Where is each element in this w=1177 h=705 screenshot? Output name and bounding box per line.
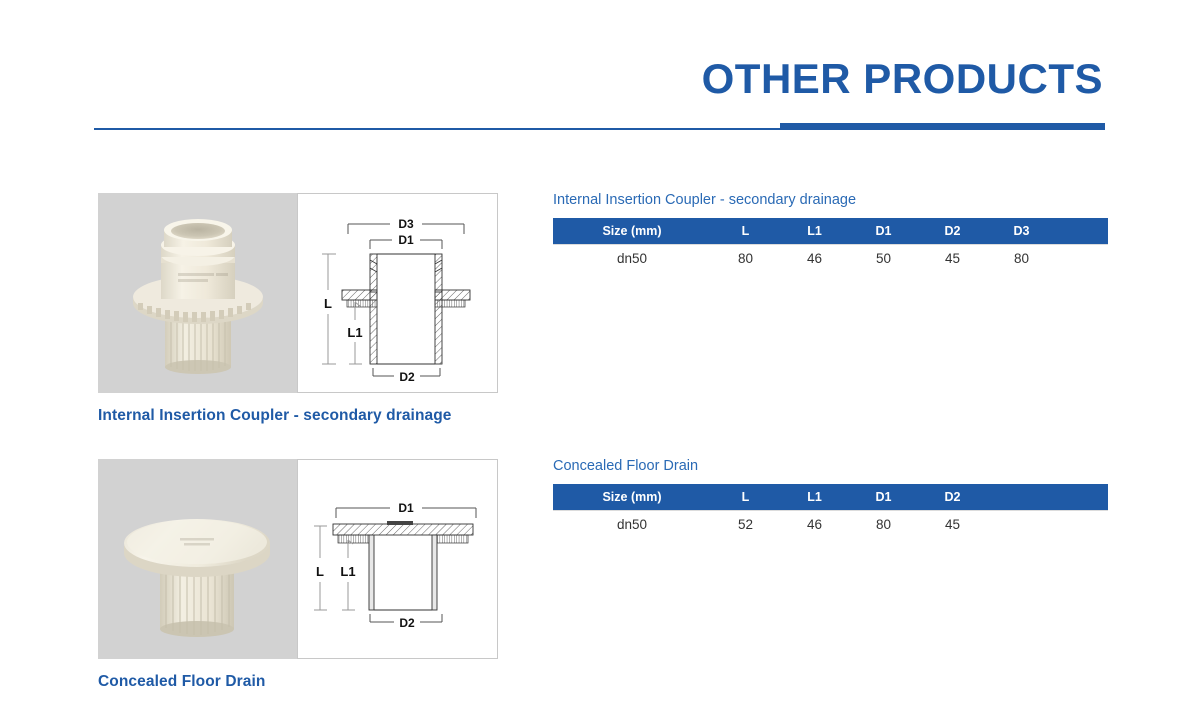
header-divider [94,120,1105,132]
drawing1-label-l: L [324,296,332,311]
divider-thin-segment [94,128,785,130]
floor-drain-dimension-drawing: D1 [298,460,497,658]
column-header: D3 [987,218,1056,244]
page-title: OTHER PRODUCTS [702,55,1103,103]
spec-table-block-concealed-floor-drain: Concealed Floor Drain Size (mm) L L1 D1 … [553,458,1108,538]
slide-other-products: OTHER PRODUCTS [0,0,1177,705]
column-header-filler [1056,218,1108,244]
table-cell-l1: 46 [780,510,849,538]
drawing2-label-l: L [316,564,324,579]
table-row: dn50 80 46 50 45 80 [553,244,1108,272]
table-cell-filler [987,510,1108,538]
table-cell-filler [1056,244,1108,272]
table-header-row: Size (mm) L L1 D1 D2 [553,484,1108,510]
coupler-dimension-drawing: D3 D1 [298,194,497,392]
column-header: D2 [918,484,987,510]
table-header-row: Size (mm) L L1 D1 D2 D3 [553,218,1108,244]
product-panels: D1 [98,459,498,659]
table-cell-l: 80 [711,244,780,272]
divider-thick-segment [780,123,1105,130]
spec-table: Size (mm) L L1 D1 D2 D3 dn50 80 46 50 45… [553,218,1108,272]
table-cell-d1: 80 [849,510,918,538]
table-cell-l1: 46 [780,244,849,272]
coupler-product-illustration [98,193,297,393]
spec-table-title: Concealed Floor Drain [553,458,1108,474]
table-cell-d2: 45 [918,510,987,538]
floor-drain-product-illustration [98,459,297,659]
column-header: L [711,218,780,244]
drawing1-label-d3: D3 [398,217,414,231]
product-photo-internal-insertion-coupler [98,193,297,393]
table-cell-size: dn50 [553,510,711,538]
table-cell-d3: 80 [987,244,1056,272]
table-cell-size: dn50 [553,244,711,272]
drawing2-label-d1: D1 [398,501,414,515]
column-header: L1 [780,218,849,244]
table-row: dn50 52 46 80 45 [553,510,1108,538]
spec-table: Size (mm) L L1 D1 D2 dn50 52 46 80 45 [553,484,1108,538]
drawing1-label-l1: L1 [347,325,362,340]
column-header: Size (mm) [553,218,711,244]
table-cell-d1: 50 [849,244,918,272]
column-header: D2 [918,218,987,244]
product-photo-concealed-floor-drain [98,459,297,659]
table-cell-d2: 45 [918,244,987,272]
drawing2-label-l1: L1 [340,564,355,579]
product-drawing-concealed-floor-drain: D1 [297,459,498,659]
table-cell-l: 52 [711,510,780,538]
product-caption-concealed-floor-drain: Concealed Floor Drain [98,673,498,691]
product-block-internal-insertion-coupler: D3 D1 [98,193,498,425]
column-header: Size (mm) [553,484,711,510]
product-drawing-internal-insertion-coupler: D3 D1 [297,193,498,393]
product-block-concealed-floor-drain: D1 [98,459,498,691]
drawing1-label-d2: D2 [399,370,415,384]
product-caption-internal-insertion-coupler: Internal Insertion Coupler - secondary d… [98,407,498,425]
drawing2-label-d2: D2 [399,616,415,630]
product-panels: D3 D1 [98,193,498,393]
column-header: L1 [780,484,849,510]
spec-table-block-internal-insertion-coupler: Internal Insertion Coupler - secondary d… [553,192,1108,272]
drawing1-label-d1: D1 [398,233,414,247]
column-header-filler [987,484,1108,510]
column-header: L [711,484,780,510]
column-header: D1 [849,218,918,244]
spec-table-title: Internal Insertion Coupler - secondary d… [553,192,1108,208]
column-header: D1 [849,484,918,510]
